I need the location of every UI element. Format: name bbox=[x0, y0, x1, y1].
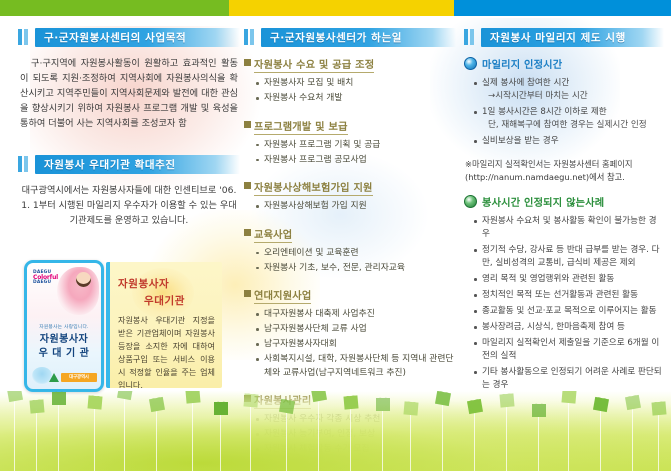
booklet-and-card-row: DAEGU Colorful DAEGU 자원봉사는 사랑입니다. 자원봉사자 … bbox=[24, 260, 220, 395]
flower-stem bbox=[658, 415, 659, 471]
list-item: 영리 목적 및 영업행위와 관련된 활동 bbox=[474, 273, 664, 286]
top-color-bars bbox=[0, 0, 671, 16]
heart-flower-icon bbox=[651, 401, 666, 415]
flower-stem bbox=[538, 417, 539, 471]
list-item: 정치적인 목적 또는 선거활동과 관련된 활동 bbox=[474, 289, 664, 302]
square-bullet-icon bbox=[244, 59, 251, 66]
flower-stem bbox=[58, 405, 59, 471]
banner-plate: 자원봉사 마일리지 제도 시행 bbox=[481, 28, 664, 47]
mid-group-items: 자원봉사 프로그램 기획 및 공급자원봉사 프로그램 공모사업 bbox=[244, 139, 456, 168]
square-bullet-icon bbox=[244, 182, 251, 189]
banner-bars-icon bbox=[244, 29, 254, 45]
mid-group-heading-label: 연대지원사업 bbox=[254, 287, 311, 304]
meadow-decoration bbox=[0, 391, 671, 471]
flower-stem bbox=[474, 413, 475, 471]
booklet-cover-image: DAEGU Colorful DAEGU 자원봉사는 사랑입니다. 자원봉사자 … bbox=[24, 260, 104, 392]
top-bar-blue bbox=[454, 0, 671, 16]
list-item: 종교활동 및 선교·포교 목적으로 이루어지는 활동 bbox=[474, 305, 664, 318]
list-item-subtext: 단, 재해복구에 참여한 경우는 실제시간 인정 bbox=[482, 119, 664, 132]
tree-icon bbox=[49, 373, 59, 382]
flower-stem bbox=[124, 399, 125, 471]
mileage-hours-title: 마일리지 인정시간 bbox=[482, 56, 562, 71]
mid-group-items: 자원봉사상해보험 가입 지원 bbox=[244, 200, 456, 214]
list-item: 자원봉사 수요처 및 봉사활동 확인이 불가능한 경우 bbox=[474, 215, 664, 241]
list-item: 자원봉사 프로그램 기획 및 공급 bbox=[256, 139, 456, 153]
heart-flower-icon bbox=[561, 391, 576, 404]
brochure-page: 구·군자원봉사센터의 사업목적 구·구지역에 자원봉사활동이 원활하고 효과적인… bbox=[0, 0, 671, 471]
booklet-subtitle: 자원봉사는 사랑입니다. bbox=[27, 323, 101, 330]
logo-line3: DAEGU bbox=[33, 280, 51, 285]
top-bar-yellow bbox=[229, 0, 454, 16]
booklet-title-line1: 자원봉사자 bbox=[40, 334, 89, 345]
booklet-badge: 대구광역시 bbox=[61, 373, 97, 382]
right-section-header: 자원봉사 마일리지 제도 시행 bbox=[464, 26, 664, 48]
flower-stem bbox=[94, 409, 95, 471]
flower-stem bbox=[442, 405, 443, 471]
heart-flower-icon bbox=[467, 399, 483, 414]
flower-stem bbox=[250, 407, 251, 471]
blue-circle-icon bbox=[464, 57, 477, 70]
mileage-hours-header: 마일리지 인정시간 bbox=[464, 56, 664, 71]
list-item: 실비보상을 받는 경우 bbox=[474, 135, 664, 148]
list-item-text: 1일 봉사시간은 8시간 이하로 제한 bbox=[482, 107, 607, 117]
list-item: 자원봉사 수요처 개발 bbox=[256, 92, 456, 106]
booklet-illustration-girl bbox=[57, 267, 99, 315]
heart-flower-icon bbox=[625, 395, 641, 410]
list-item: 자원봉사자 모집 및 배치 bbox=[256, 77, 456, 91]
left-section2-title: 자원봉사 우대기관 확대추진 bbox=[35, 157, 176, 172]
flower-stem bbox=[568, 403, 569, 471]
square-bullet-icon bbox=[244, 229, 251, 236]
yellow-card-title-line1: 자원봉사자 bbox=[118, 276, 169, 291]
banner-bars-icon bbox=[18, 156, 28, 172]
flower-stem bbox=[14, 401, 15, 471]
booklet-title-line2: 우 대 기 관 bbox=[39, 348, 90, 359]
flower-stem bbox=[220, 415, 221, 471]
heart-flower-icon bbox=[87, 395, 102, 409]
list-item: 자원봉사 프로그램 공모사업 bbox=[256, 154, 456, 168]
yellow-card-body: 자원봉사 우대기관 지정을 받은 기관업체이며 자원봉사등장을 소지한 자에 대… bbox=[118, 314, 215, 388]
mid-group-items: 자원봉사자 모집 및 배치자원봉사 수요처 개발 bbox=[244, 77, 456, 106]
banner-bars-icon bbox=[18, 29, 28, 45]
heart-flower-icon bbox=[593, 397, 609, 412]
heart-flower-icon bbox=[435, 391, 451, 406]
mileage-note-prefix: ※마일리지 실적확인서는 자원봉사센터 홈페이지 bbox=[465, 159, 633, 169]
heart-flower-icon bbox=[243, 393, 258, 407]
mid-group-heading: 연대지원사업 bbox=[244, 287, 456, 304]
top-bar-green bbox=[0, 0, 229, 16]
booklet-title: 자원봉사자 우 대 기 관 bbox=[27, 333, 101, 361]
heart-flower-icon bbox=[279, 399, 295, 414]
mid-group-heading-label: 교육사업 bbox=[254, 226, 292, 243]
flower-stem bbox=[410, 415, 411, 471]
list-item-text: 실제 봉사에 참여한 시간 bbox=[482, 78, 569, 88]
list-item: 1일 봉사시간은 8시간 이하로 제한단, 재해복구에 참여한 경우는 실제시간… bbox=[474, 106, 664, 132]
heart-flower-icon bbox=[52, 392, 66, 405]
mileage-note: ※마일리지 실적확인서는 자원봉사센터 홈페이지 (http://nanum.n… bbox=[464, 158, 664, 184]
heart-flower-icon bbox=[214, 402, 228, 415]
left-section1-body: 구·구지역에 자원봉사활동이 원활하고 효과적인 활동이 되도록 지원·조정하여… bbox=[20, 56, 238, 131]
heart-flower-icon bbox=[343, 395, 358, 409]
list-item: 자원봉사상해보험 가입 지원 bbox=[256, 200, 456, 214]
heart-flower-icon bbox=[149, 397, 165, 412]
booklet-footer: 대구광역시 bbox=[31, 366, 97, 384]
banner-plate: 구·군자원봉사센터의 사업목적 bbox=[35, 28, 240, 47]
mid-group-items: 대구자원봉사 대축제 사업추진남구자원봉사단체 교류 사업남구자원봉사자대회사회… bbox=[244, 308, 456, 380]
heart-flower-icon bbox=[29, 399, 44, 413]
mileage-note-url: (http://nanum.namdaegu.net)에서 참고. bbox=[465, 172, 625, 182]
mid-group-heading-label: 자원봉사상해보험가입 지원 bbox=[254, 179, 373, 196]
list-item: 남구자원봉사단체 교류 사업 bbox=[256, 323, 456, 337]
list-item-text: 실비보상을 받는 경우 bbox=[482, 136, 559, 146]
mid-group-heading-label: 프로그램개발 및 보급 bbox=[254, 118, 348, 135]
list-item: 남구자원봉사자대회 bbox=[256, 338, 456, 352]
flower-stem bbox=[318, 401, 319, 471]
list-item: 기타 봉사활동으로 인정되기 어려운 사례로 판단되는 경우 bbox=[474, 366, 664, 392]
mid-group-items: 오리엔테이션 및 교육훈련자원봉사 기초, 보수, 전문, 관리자교육 bbox=[244, 247, 456, 276]
yellow-card-title-line2: 우대기관 bbox=[144, 293, 185, 308]
left-column: 구·군자원봉사센터의 사업목적 구·구지역에 자원봉사활동이 원활하고 효과적인… bbox=[18, 26, 240, 228]
flower-stem bbox=[36, 413, 37, 471]
excluded-cases-list: 자원봉사 수요처 및 봉사활동 확인이 불가능한 경우정기적 수당, 강사료 등… bbox=[464, 215, 664, 392]
square-bullet-icon bbox=[244, 121, 251, 128]
heart-flower-icon bbox=[532, 404, 546, 417]
left-section1-title: 구·군자원봉사센터의 사업목적 bbox=[35, 30, 186, 45]
heart-flower-icon bbox=[499, 393, 514, 407]
mid-group-heading-label: 자원봉사 수요 및 공급 조정 bbox=[254, 56, 374, 73]
spacer bbox=[18, 131, 240, 153]
mid-group-heading: 프로그램개발 및 보급 bbox=[244, 118, 456, 135]
banner-plate: 구·군자원봉사센터가 하는일 bbox=[261, 28, 456, 47]
flower-stem bbox=[382, 411, 383, 471]
list-item: 정기적 수당, 강사료 등 반대 급부를 받는 경우. 다만, 실비성격의 교통… bbox=[474, 244, 664, 270]
mid-section-header: 구·군자원봉사센터가 하는일 bbox=[244, 26, 456, 48]
left-section2-body: 대구광역시에서는 자원봉사자들에 대한 인센티브로 '06. 1. 1부터 시행… bbox=[20, 183, 238, 228]
list-item: 마일리지 실적확인서 제출일을 기준으로 6개월 이전의 실적 bbox=[474, 337, 664, 363]
list-item: 봉사장려금, 시상식, 한마음축제 참여 등 bbox=[474, 321, 664, 334]
mid-group-heading: 자원봉사상해보험가입 지원 bbox=[244, 179, 456, 196]
yellow-info-card: 자원봉사자 우대기관 자원봉사 우대기관 지정을 받은 기관업체이며 자원봉사등… bbox=[106, 262, 222, 388]
flower-stem bbox=[600, 411, 601, 471]
flower-stem bbox=[350, 409, 351, 471]
flower-stem bbox=[506, 407, 507, 471]
left-section2-header: 자원봉사 우대기관 확대추진 bbox=[18, 153, 240, 175]
heart-flower-icon bbox=[403, 401, 418, 415]
list-item: 오리엔테이션 및 교육훈련 bbox=[256, 247, 456, 261]
mid-section-title: 구·군자원봉사센터가 하는일 bbox=[261, 30, 402, 45]
mid-group-heading: 교육사업 bbox=[244, 226, 456, 243]
list-item: 대구자원봉사 대축제 사업추진 bbox=[256, 308, 456, 322]
booklet-badge-label: 대구광역시 bbox=[61, 373, 97, 382]
flower-stem bbox=[192, 403, 193, 471]
square-bullet-icon bbox=[244, 290, 251, 297]
list-item-subtext: →시작시간부터 마치는 시간 bbox=[482, 90, 664, 103]
heart-flower-icon bbox=[376, 398, 390, 411]
list-item: 사회복지시설, 대학, 자원봉사단체 등 지역내 관련단체와 교류사업(남구지역… bbox=[256, 353, 456, 380]
banner-bars-icon bbox=[464, 29, 474, 45]
left-section1-header: 구·군자원봉사센터의 사업목적 bbox=[18, 26, 240, 48]
flower-stem bbox=[286, 413, 287, 471]
mid-group-heading: 자원봉사 수요 및 공급 조정 bbox=[244, 56, 456, 73]
green-circle-icon bbox=[464, 195, 477, 208]
list-item: 실제 봉사에 참여한 시간→시작시간부터 마치는 시간 bbox=[474, 77, 664, 103]
excluded-cases-title: 봉사시간 인정되지 않는사례 bbox=[482, 194, 604, 209]
banner-plate: 자원봉사 우대기관 확대추진 bbox=[35, 155, 240, 174]
heart-flower-icon bbox=[185, 391, 200, 404]
mileage-hours-list: 실제 봉사에 참여한 시간→시작시간부터 마치는 시간1일 봉사시간은 8시간 … bbox=[464, 77, 664, 148]
flower-stem bbox=[632, 409, 633, 471]
right-column: 자원봉사 마일리지 제도 시행 마일리지 인정시간 실제 봉사에 참여한 시간→… bbox=[464, 26, 664, 402]
list-item: 자원봉사 기초, 보수, 전문, 관리자교육 bbox=[256, 262, 456, 276]
excluded-cases-header: 봉사시간 인정되지 않는사례 bbox=[464, 194, 664, 209]
flower-stem bbox=[156, 411, 157, 471]
right-section-title: 자원봉사 마일리지 제도 시행 bbox=[481, 30, 626, 45]
